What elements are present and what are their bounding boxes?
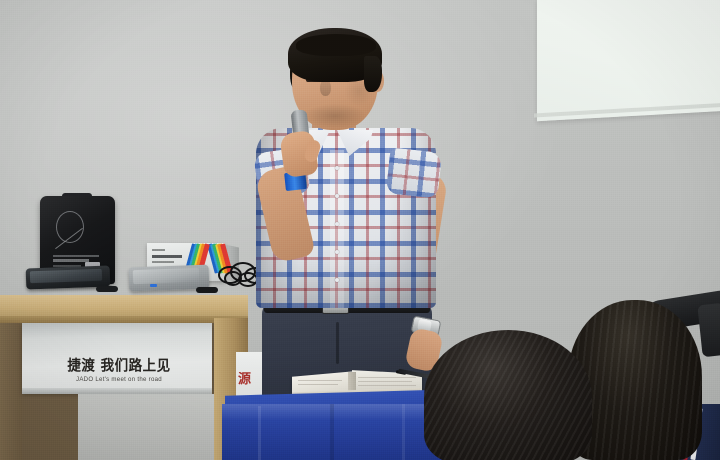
photo-scene: 捷渡 我们路上见 JADO Let's meet on the road	[0, 0, 720, 460]
photo-vignette	[0, 0, 720, 460]
